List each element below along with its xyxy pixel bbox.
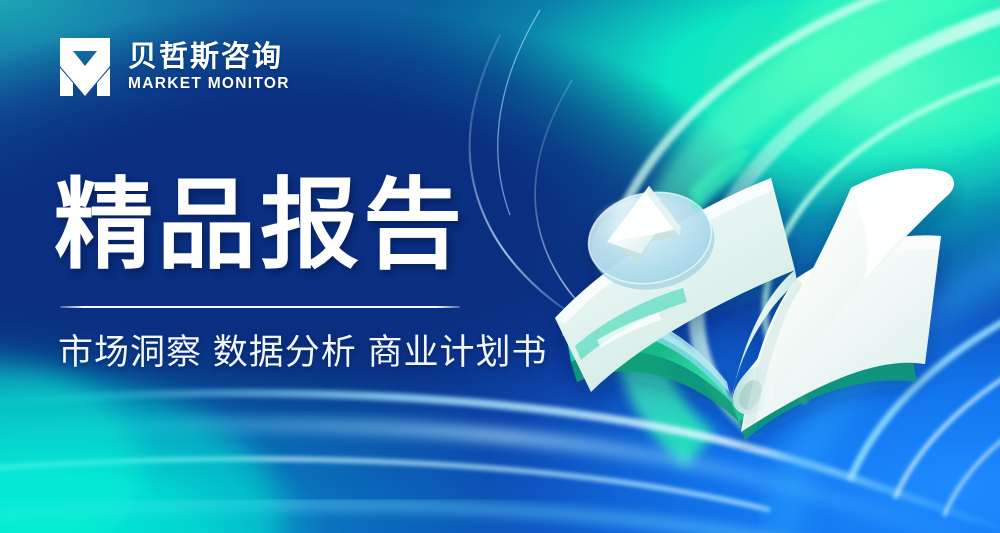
brand-name-en: MARKET MONITOR <box>128 76 290 92</box>
hero-subtitle: 市场洞察 数据分析 商业计划书 <box>58 333 547 373</box>
hero-divider <box>60 306 460 308</box>
market-monitor-m-logo-icon <box>56 36 114 98</box>
brand-name-cn: 贝哲斯咨询 <box>128 43 290 72</box>
brand-logo: 贝哲斯咨询 MARKET MONITOR <box>56 36 290 98</box>
hero-headline: 精品报告 <box>54 176 466 275</box>
open-book-illustration <box>545 150 965 450</box>
promo-banner: 贝哲斯咨询 MARKET MONITOR 精品报告 市场洞察 数据分析 商业计划… <box>0 0 1000 533</box>
